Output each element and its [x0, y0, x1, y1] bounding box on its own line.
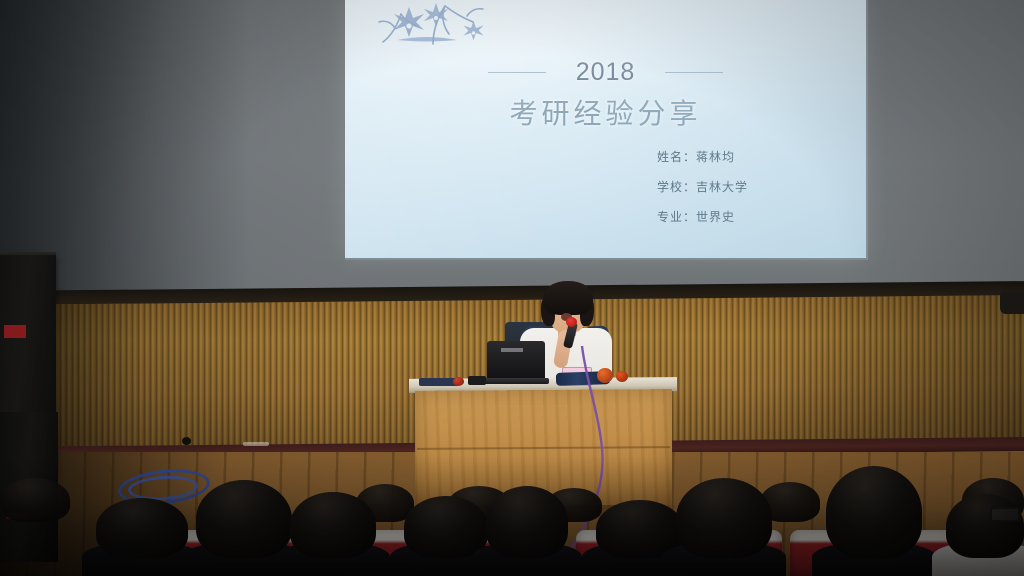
desk-red-object-a	[597, 368, 613, 383]
laptop-base	[483, 378, 549, 384]
audience-member-7	[676, 478, 772, 558]
audience-glasses	[990, 507, 1020, 522]
laptop-screen	[487, 341, 545, 381]
desk-red-object-b	[616, 371, 628, 382]
divider-left	[488, 72, 546, 73]
slide-year-row: 2018	[345, 58, 866, 87]
audience-member-1	[96, 498, 188, 558]
slide-title: 考研经验分享	[345, 92, 866, 132]
audience-member-4	[404, 496, 488, 558]
speaker-brand-badge	[4, 325, 26, 338]
lecture-hall-scene: 2018 考研经验分享 姓名：蒋林均 学校：吉林大学 专业：世界史	[0, 0, 1024, 576]
slide-meta-school: 学校：吉林大学	[657, 178, 748, 195]
floor-object	[182, 437, 191, 445]
slide-meta-major: 专业：世界史	[657, 208, 748, 225]
wall-mounted-object	[1000, 292, 1024, 314]
audience-member-2	[196, 480, 292, 558]
audience-member-5	[486, 486, 568, 558]
floor-marking	[243, 442, 269, 446]
audience-back-1	[0, 478, 70, 522]
presenter-hair	[543, 281, 593, 315]
audience-member-8	[826, 466, 922, 558]
desk-dark-object	[468, 376, 486, 385]
laptop-brand-logo	[501, 348, 523, 352]
projection-screen: 2018 考研经验分享 姓名：蒋林均 学校：吉林大学 专业：世界史	[345, 0, 866, 258]
microphone-head	[566, 317, 577, 327]
slide-meta-list: 姓名：蒋林均 学校：吉林大学 专业：世界史	[657, 148, 748, 225]
desk-red-object-c	[453, 377, 464, 386]
divider-right	[665, 72, 723, 73]
slide-year: 2018	[576, 58, 636, 87]
audience-member-3	[290, 492, 376, 558]
audience-member-9	[946, 494, 1024, 558]
flower-ornament-icon	[371, 0, 501, 52]
slide-meta-name: 姓名：蒋林均	[657, 148, 748, 165]
